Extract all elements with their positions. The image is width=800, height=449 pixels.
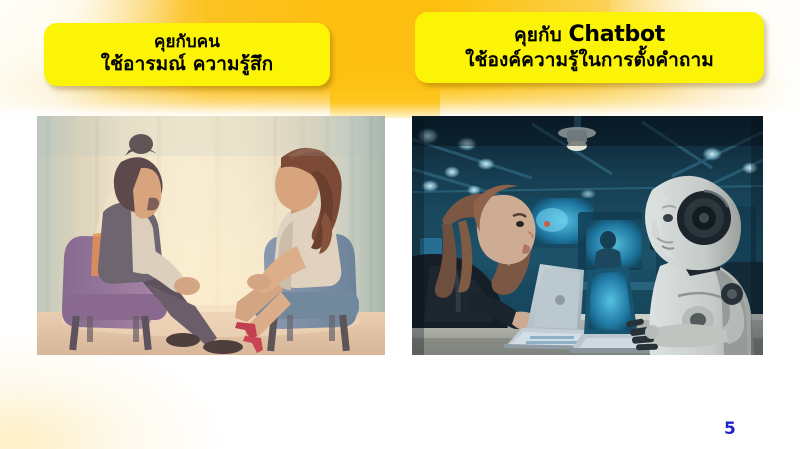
callout-human-line2: ใช้อารมณ์ ความรู้สึก: [101, 53, 274, 75]
callout-chatbot-conversation: คุยกับ Chatbot ใช้องค์ความรู้ในการตั้งคำ…: [415, 12, 764, 83]
slide-canvas: คุยกับคน ใช้อารมณ์ ความรู้สึก คุยกับ Cha…: [0, 0, 800, 449]
callout-chatbot-brand-label: Chatbot: [569, 22, 665, 47]
photo-woman-and-robot-art: [412, 116, 763, 355]
photo-two-people-talking-art: [37, 116, 385, 355]
callout-human-conversation: คุยกับคน ใช้อารมณ์ ความรู้สึก: [44, 23, 330, 86]
callout-human-line1: คุยกับคน: [154, 32, 220, 52]
photo-woman-and-robot: [412, 116, 763, 355]
callout-chatbot-line1: คุยกับ Chatbot: [514, 22, 665, 48]
photo-two-people-talking: [37, 116, 385, 355]
callout-chatbot-line1-prefix: คุยกับ: [514, 24, 569, 46]
callout-chatbot-line2: ใช้องค์ความรู้ในการตั้งคำถาม: [465, 49, 714, 71]
page-number: 5: [724, 419, 750, 439]
